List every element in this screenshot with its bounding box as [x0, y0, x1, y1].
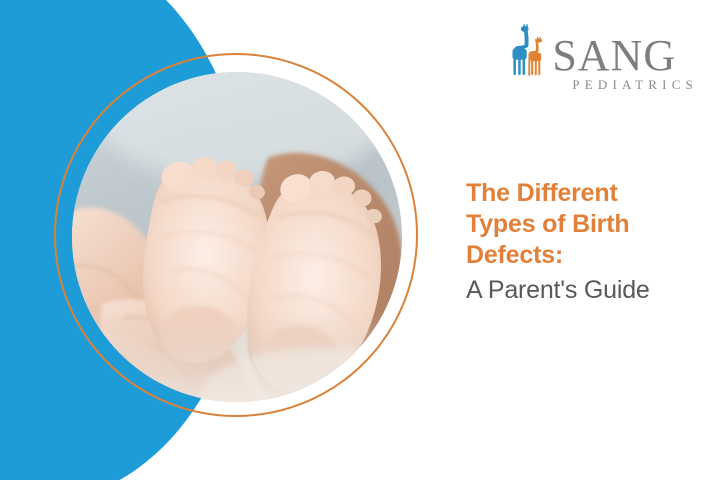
brand-logo[interactable]: SANG PEDIATRICS — [508, 24, 698, 93]
logo-top-row: SANG — [508, 24, 676, 76]
headline-line-2: Types of Birth — [466, 209, 710, 240]
headline-subtitle: A Parent's Guide — [466, 274, 710, 307]
headline-block: The Different Types of Birth Defects: A … — [466, 178, 710, 307]
headline-line-1: The Different — [466, 178, 710, 209]
headline-line-3: Defects: — [466, 240, 710, 271]
hero-photo — [72, 72, 402, 402]
giraffe-pair-icon — [508, 24, 550, 76]
brand-tagline-row: PEDIATRICS — [508, 77, 700, 93]
banner-canvas: SANG PEDIATRICS The Different Types of B… — [0, 0, 720, 480]
brand-name: SANG — [552, 36, 676, 76]
brand-tagline: PEDIATRICS — [510, 77, 698, 93]
